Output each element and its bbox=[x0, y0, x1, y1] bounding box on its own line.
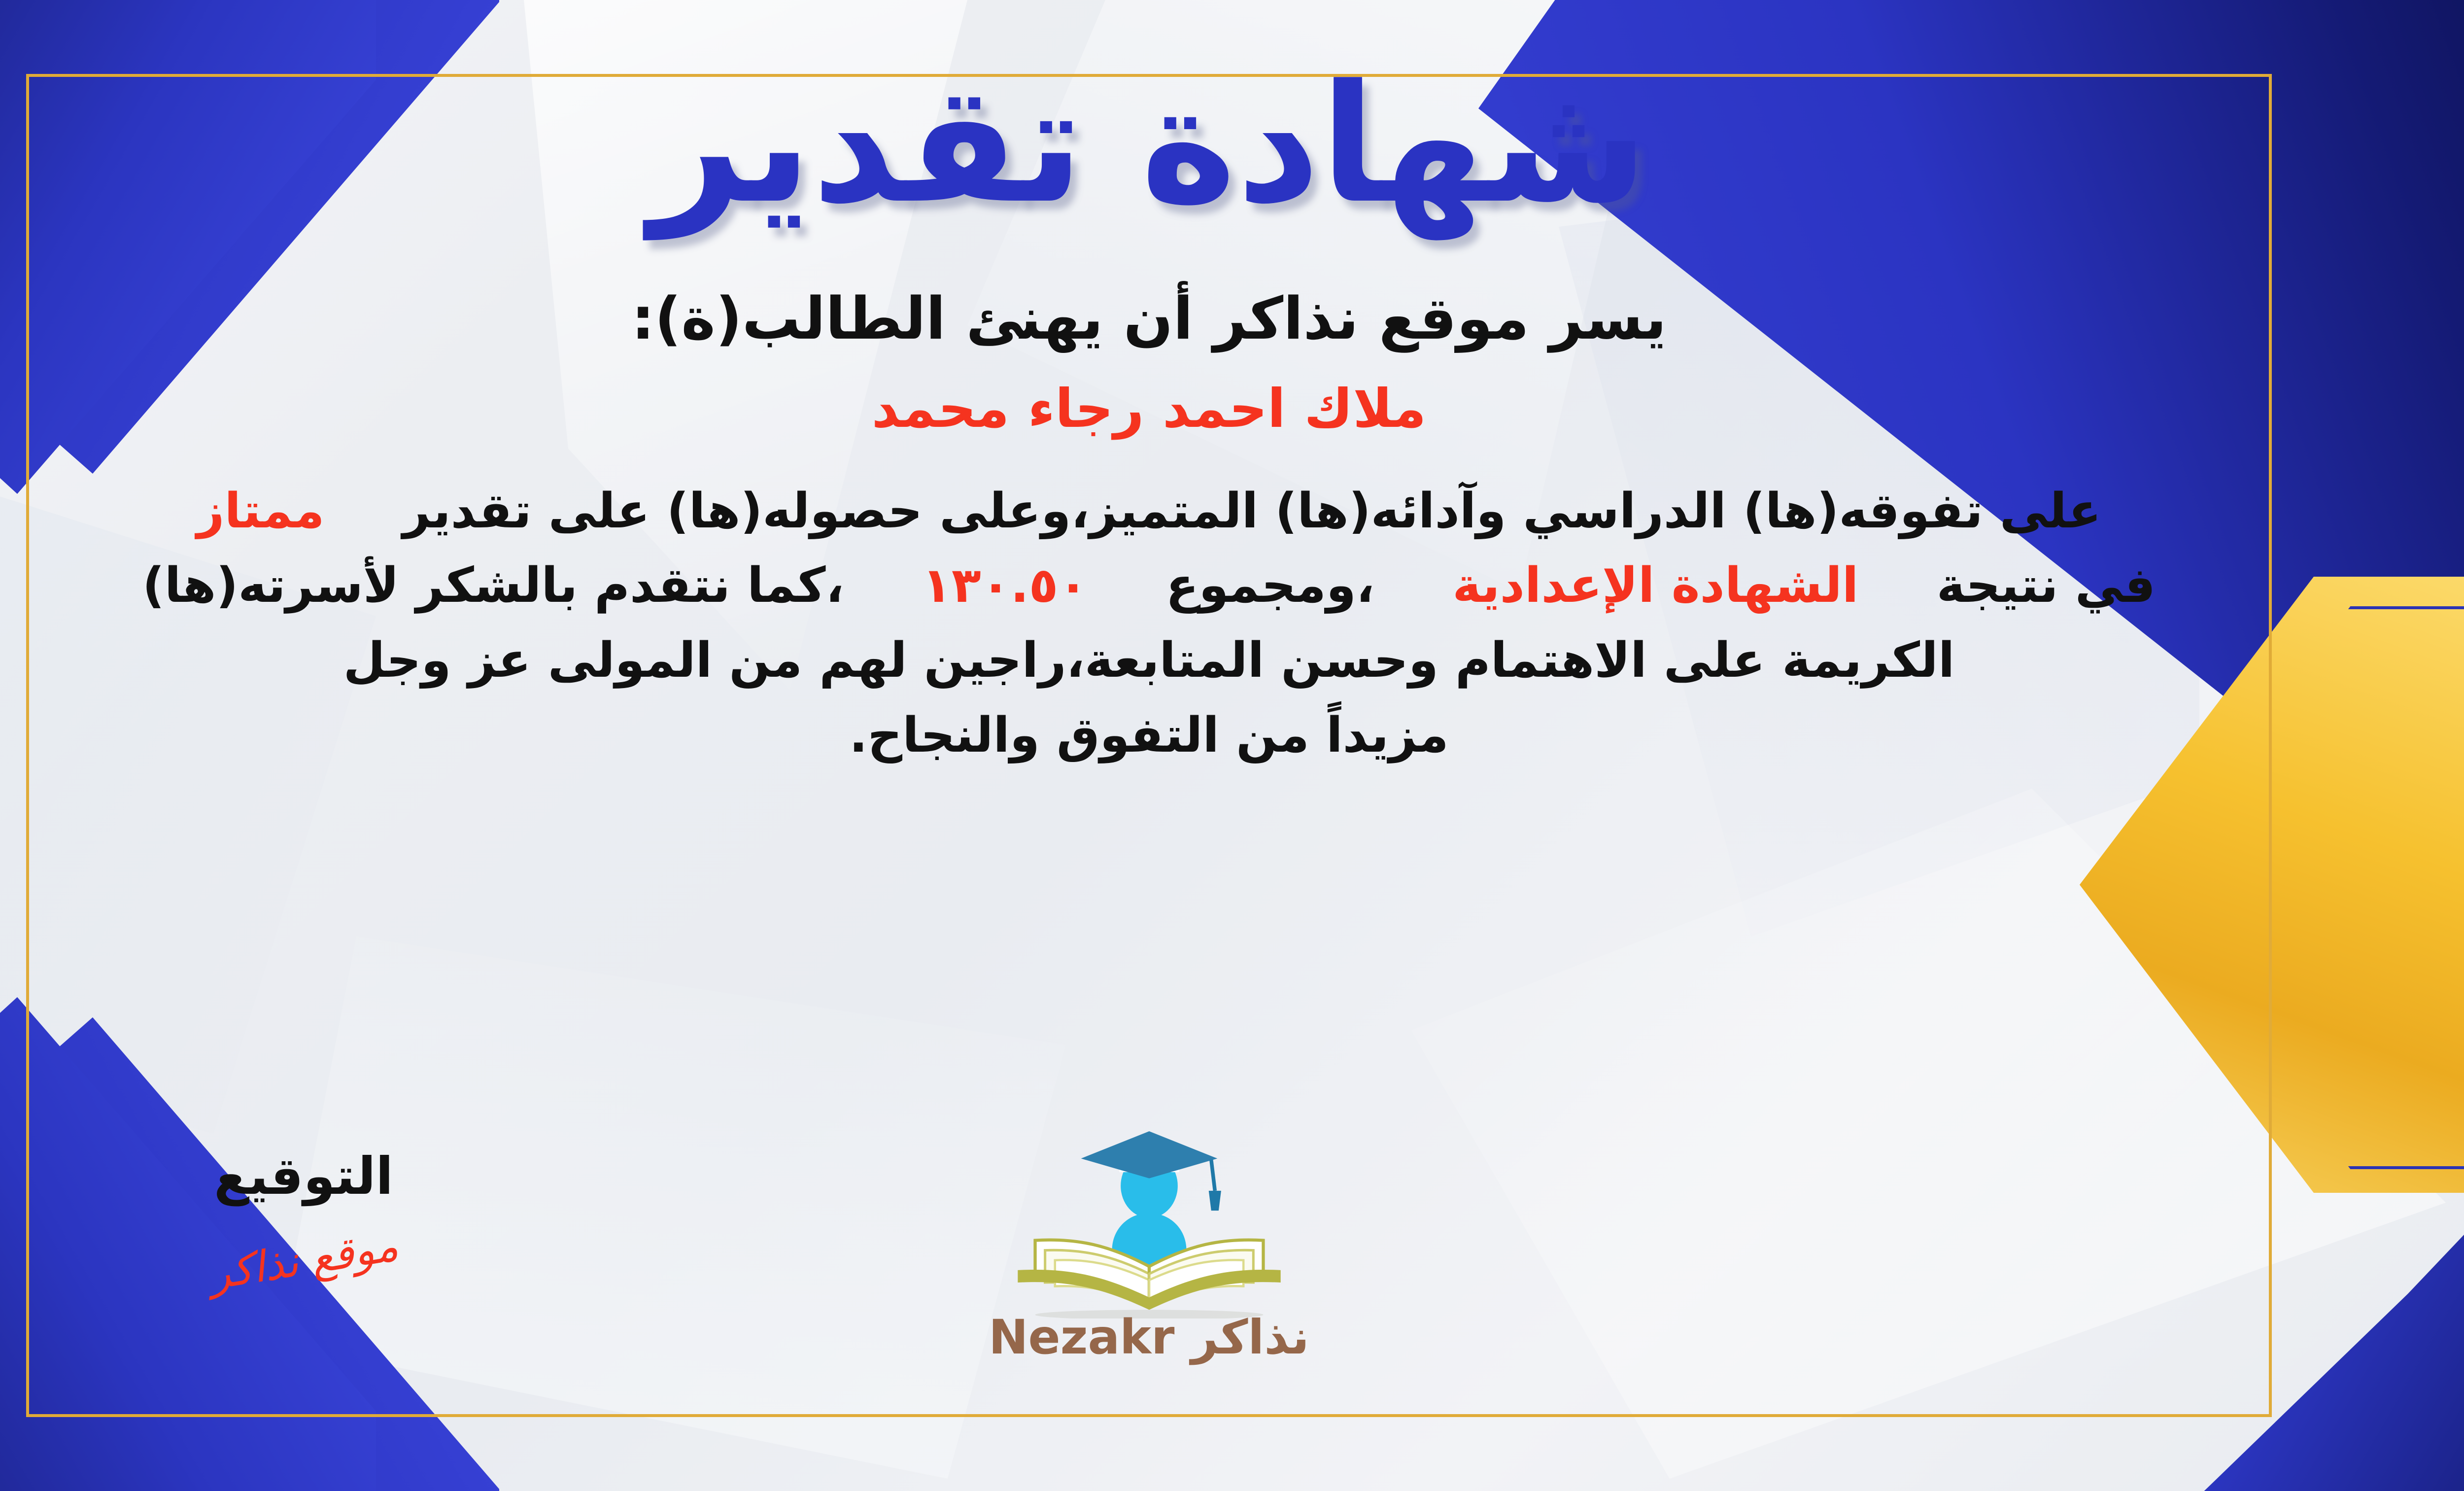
signature-label: التوقيع bbox=[208, 1146, 399, 1206]
total-score-value: ١٣٠.٥٠ bbox=[922, 557, 1088, 614]
grade-value: ممتاز bbox=[197, 483, 325, 539]
body-line-2-prefix: في نتيجة bbox=[1937, 557, 2156, 614]
certificate-content: شهادة تقدير يسر موقع نذاكر أن يهنئ الطال… bbox=[0, 0, 2464, 1491]
certificate-title: شهادة تقدير bbox=[650, 59, 1648, 230]
body-line-3: الكريمة على الاهتمام وحسن المتابعة،راجين… bbox=[45, 624, 2253, 698]
body-line-2: في نتيجة الشهادة الإعدادية ،ومجموع ١٣٠.٥… bbox=[45, 549, 2253, 624]
site-logo: نذاكر Nezakr bbox=[962, 1126, 1336, 1365]
certificate-body: على تفوقه(ها) الدراسي وآدائه(ها) المتميز… bbox=[45, 474, 2253, 774]
graduate-book-logo-icon bbox=[962, 1126, 1336, 1318]
body-line-1-text: على تفوقه(ها) الدراسي وآدائه(ها) المتميز… bbox=[403, 483, 2101, 539]
exam-name: الشهادة الإعدادية bbox=[1452, 557, 1858, 614]
body-line-4: مزيداً من التفوق والنجاح. bbox=[45, 698, 2253, 773]
body-line-2-suffix: ،كما نتقدم بالشكر لأسرته(ها) bbox=[142, 557, 844, 614]
signature-block: التوقيع موقع نذاكر bbox=[208, 1146, 399, 1285]
signature-handwriting: موقع نذاكر bbox=[206, 1221, 402, 1299]
certificate-footer: التوقيع موقع نذاكر bbox=[0, 1126, 2464, 1422]
body-line-1: على تفوقه(ها) الدراسي وآدائه(ها) المتميز… bbox=[45, 474, 2253, 549]
certificate-canvas: شهادة تقدير يسر موقع نذاكر أن يهنئ الطال… bbox=[0, 0, 2464, 1491]
body-line-2-mid: ،ومجموع bbox=[1166, 557, 1375, 614]
congratulation-lead-text: يسر موقع نذاكر أن يهنئ الطالب(ة): bbox=[631, 284, 1667, 352]
logo-wordmark: نذاكر Nezakr bbox=[962, 1310, 1336, 1365]
student-name: ملاك احمد رجاء محمد bbox=[872, 378, 1427, 440]
